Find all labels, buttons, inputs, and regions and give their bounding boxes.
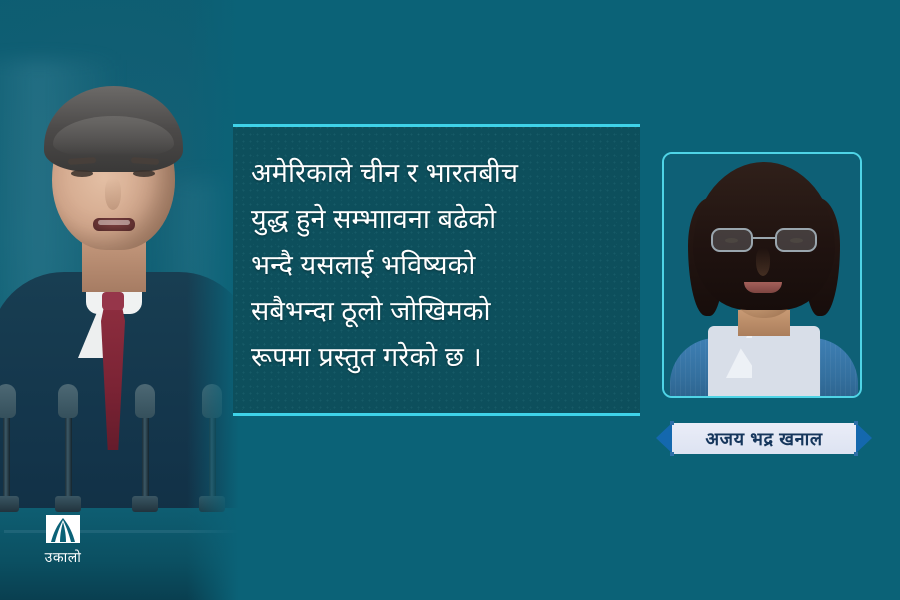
quote-card: अमेरिकाले चीन र भारतबीच युद्ध हुने सम्भा… bbox=[0, 0, 900, 600]
speaker-nose bbox=[105, 178, 121, 210]
quote-box: अमेरिकाले चीन र भारतबीच युद्ध हुने सम्भा… bbox=[233, 124, 640, 416]
quote-line: रूपमा प्रस्तुत गरेको छ । bbox=[251, 334, 626, 380]
quote-line: भन्दै यसलाई भविष्यको bbox=[251, 242, 626, 288]
author-portrait bbox=[662, 152, 862, 398]
author-name: अजय भद्र खनाल bbox=[705, 427, 822, 451]
quote-line: सबैभन्दा ठूलो जोखिमको bbox=[251, 288, 626, 334]
author-name-ribbon: अजय भद्र खनाल bbox=[656, 421, 872, 456]
quote-rule-top bbox=[233, 124, 640, 127]
microphone bbox=[0, 384, 16, 512]
speaker-eye-left bbox=[71, 170, 93, 177]
microphone bbox=[58, 384, 78, 512]
brand-logo[interactable]: उकालो bbox=[28, 513, 98, 565]
left-speaker-photo bbox=[0, 0, 243, 600]
ribbon-body: अजय भद्र खनाल bbox=[672, 423, 856, 454]
portrait-nose bbox=[756, 248, 770, 276]
speaker-eye-right bbox=[133, 170, 155, 177]
quote-text: अमेरिकाले चीन र भारतबीच युद्ध हुने सम्भा… bbox=[251, 150, 626, 380]
speaker-necktie-knot bbox=[102, 292, 124, 310]
speaker-mouth bbox=[93, 218, 135, 231]
quote-line: अमेरिकाले चीन र भारतबीच bbox=[251, 150, 626, 196]
brand-wordmark: उकालो bbox=[28, 548, 98, 567]
portrait-mouth bbox=[744, 282, 782, 293]
ribbon-arrow-right-icon bbox=[854, 421, 872, 455]
ukalo-mark-icon bbox=[44, 513, 82, 545]
microphone bbox=[135, 384, 155, 512]
quote-rule-bottom bbox=[233, 413, 640, 416]
quote-line: युद्ध हुने सम्भाावना बढेको bbox=[251, 196, 626, 242]
